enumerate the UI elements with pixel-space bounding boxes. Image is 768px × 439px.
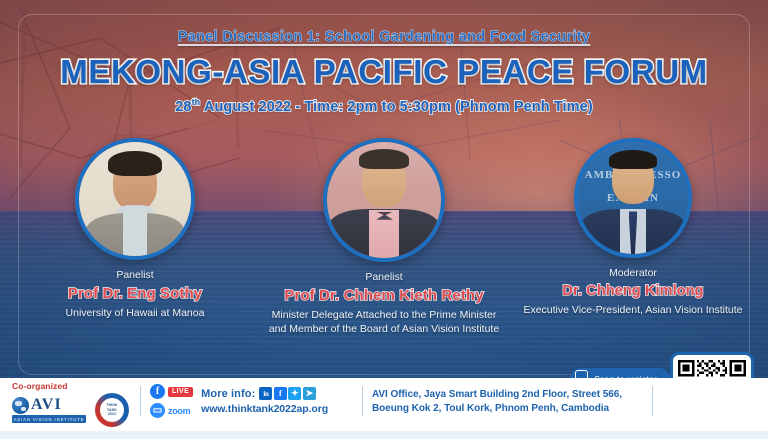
footer-divider-3 [652,386,653,416]
speakers-list: Panelist Prof Dr. Eng Sothy University o… [0,138,768,348]
speaker-role: Panelist [263,271,505,283]
footer-divider-1 [140,386,141,416]
think-tank-line3: 2022 [108,412,116,416]
portrait-photo-0 [79,142,191,256]
twitter-icon[interactable]: ✦ [288,387,301,400]
date-ordinal: th [192,97,201,107]
avatar [75,138,195,260]
zoom-row[interactable]: ▭ zoom [150,403,193,418]
torso-shape [86,213,185,256]
social-icons: in f ✦ ➤ [259,387,316,400]
avatar: AMBODIA ESSO EXPR IN [574,138,692,258]
zoom-camera-icon: ▭ [150,403,165,418]
more-info-block: f LIVE ▭ zoom More info: in f ✦ ➤ www.th… [150,384,328,418]
avi-tagline: ASIAN VISION INSTITUTE [12,415,86,423]
speaker-card-0: Panelist Prof Dr. Eng Sothy University o… [14,138,256,321]
speaker-card-2: AMBODIA ESSO EXPR IN Moderator Dr. Chhen… [512,138,754,318]
avi-logo[interactable]: AVI ASIAN VISION INSTITUTE [12,397,86,424]
address-line-2: Boeung Kok 2, Toul Kork, Phnom Penh, Cam… [372,402,622,416]
telegram-icon[interactable]: ➤ [303,387,316,400]
address-block: AVI Office, Jaya Smart Building 2nd Floo… [372,388,622,416]
avi-logo-top: AVI [12,397,86,414]
speaker-affiliation: Executive Vice-President, Asian Vision I… [512,304,754,318]
co-organized-label: Co-organized [12,381,137,391]
think-tank-text: THINK TANK 2022 [95,393,129,427]
facebook-icon[interactable]: f [274,387,287,400]
backdrop-text-line1: AMBODIA ESSO [578,169,688,181]
avi-wordmark: AVI [31,397,62,413]
linkedin-icon[interactable]: in [259,387,272,400]
speaker-card-1: Panelist Prof Dr. Chhem Kieth Rethy Mini… [263,138,505,336]
more-info-row: More info: in f ✦ ➤ [201,387,328,400]
page-title: MEKONG-ASIA PACIFIC PEACE FORUM [0,53,768,91]
co-organizer-block: Co-organized AVI ASIAN VISION INSTITUTE … [12,381,137,427]
event-poster: Panel Discussion 1: School Gardening and… [0,0,768,439]
portrait-photo-1 [327,142,441,258]
zoom-label: zoom [168,406,190,416]
event-datetime: 28th August 2022 - Time: 2pm to 5:30pm (… [0,97,768,115]
poster-header: Panel Discussion 1: School Gardening and… [0,28,768,115]
date-day: 28 [175,99,191,115]
more-info-lines: More info: in f ✦ ➤ www.thinktank2022ap.… [201,387,328,415]
speaker-affiliation: University of Hawaii at Manoa [14,307,256,321]
globe-icon [12,397,29,414]
organizer-logos: AVI ASIAN VISION INSTITUTE THINK TANK 20… [12,393,137,427]
more-info-label: More info: [201,388,255,400]
avatar [323,138,445,262]
speaker-name: Prof Dr. Eng Sothy [14,285,256,302]
speaker-name: Prof Dr. Chhem Kieth Rethy [263,287,505,304]
backdrop-text-line2: EXPR IN [578,192,688,204]
live-badge: LIVE [168,387,193,397]
footer-divider-2 [362,386,363,416]
speaker-role: Panelist [14,269,256,281]
facebook-live-row[interactable]: f LIVE [150,384,193,399]
website-url[interactable]: www.thinktank2022ap.org [201,403,328,415]
speaker-role: Moderator [512,267,754,279]
date-rest: August 2022 - Time: 2pm to 5:30pm (Phnom… [200,99,592,115]
panel-discussion-kicker: Panel Discussion 1: School Gardening and… [178,29,591,45]
speaker-name: Dr. Chheng Kimlong [512,283,754,299]
broadcast-channels: f LIVE ▭ zoom [150,384,193,418]
think-tank-logo[interactable]: THINK TANK 2022 [95,393,129,427]
facebook-icon: f [150,384,165,399]
speaker-affiliation: Minister Delegate Attached to the Prime … [263,309,505,336]
portrait-photo-2: AMBODIA ESSO EXPR IN [578,142,688,254]
address-line-1: AVI Office, Jaya Smart Building 2nd Floo… [372,388,622,402]
footer-bottom-strip [0,431,768,439]
